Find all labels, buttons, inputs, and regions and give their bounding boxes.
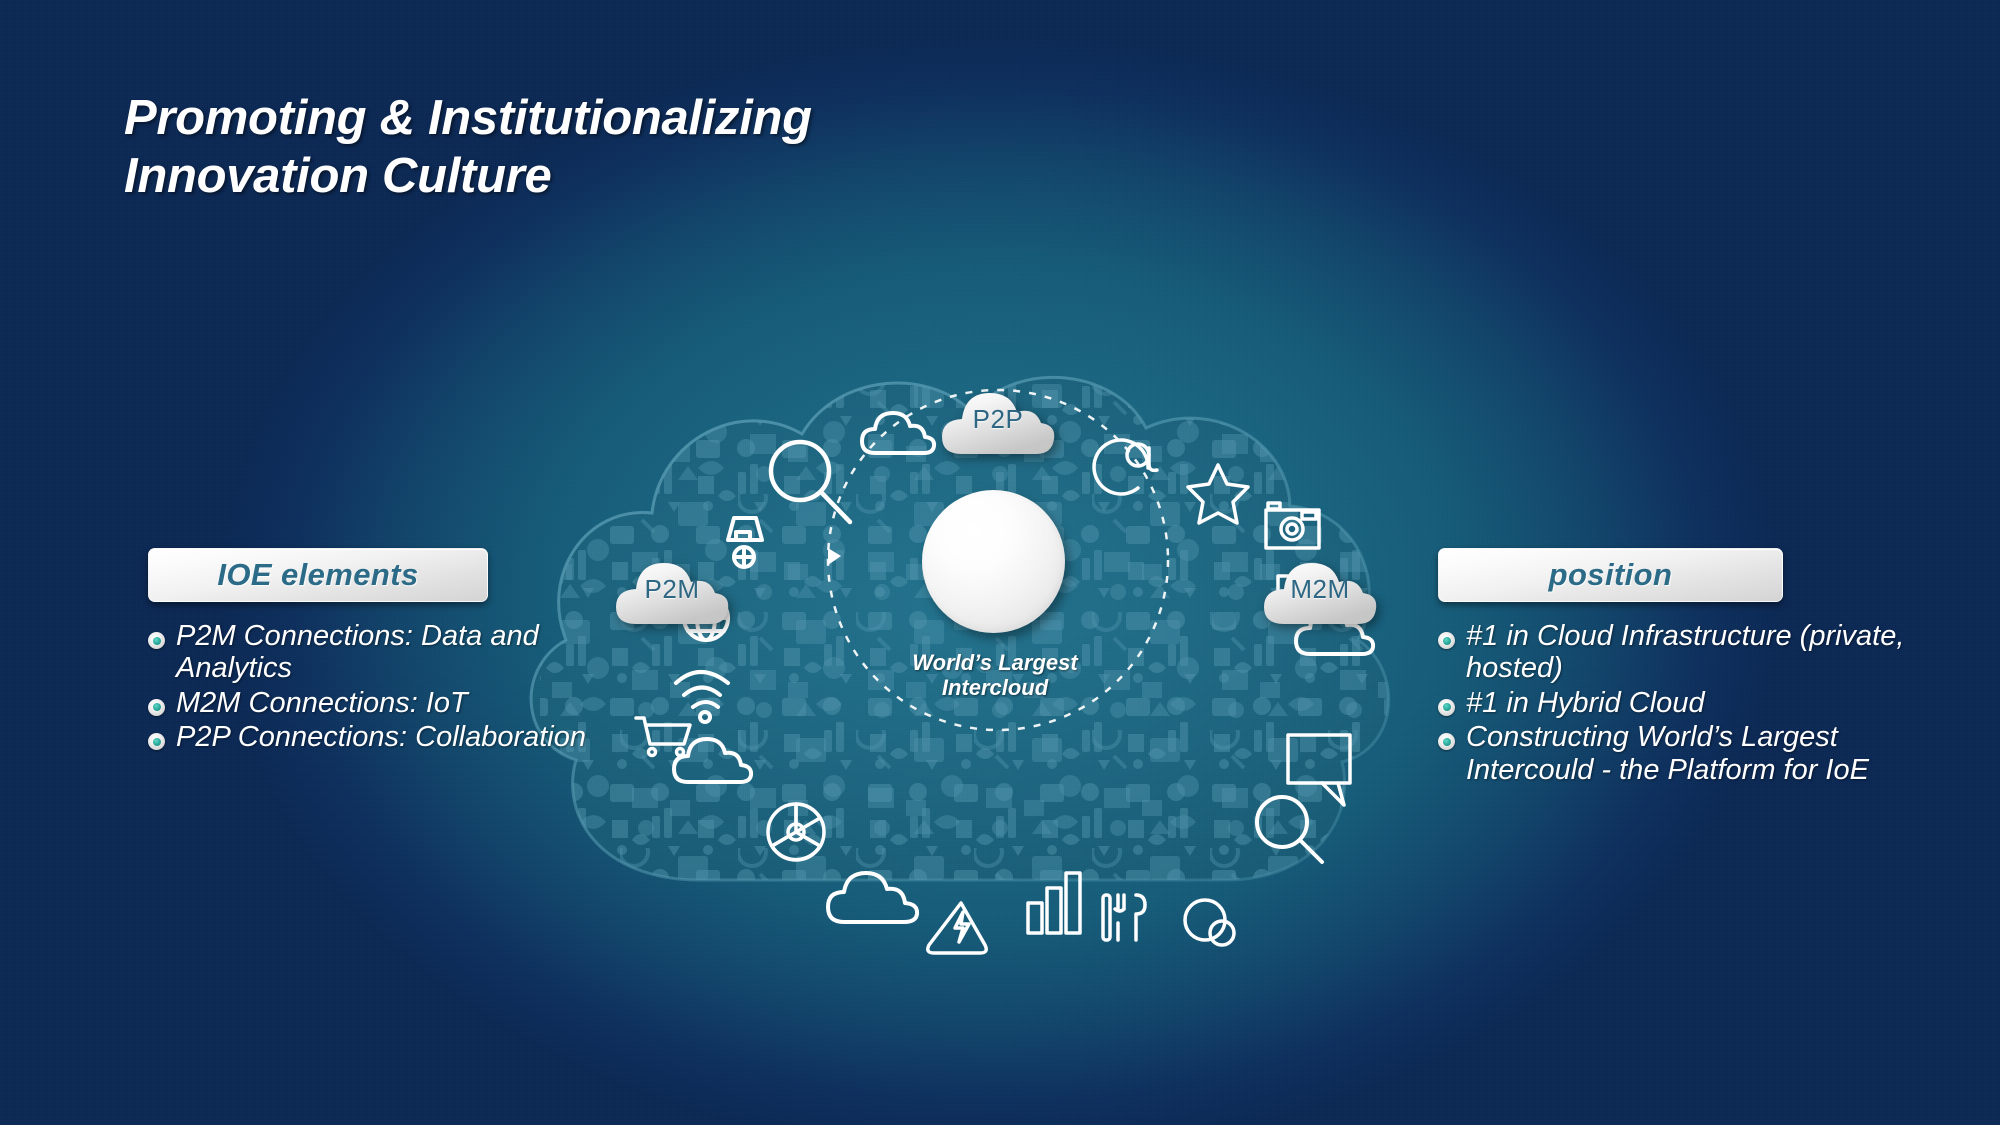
ioe-elements-panel: IOE elements P2M Connections: Data and A… [148, 548, 618, 756]
orbit-arrow-marker [828, 548, 841, 565]
ioe-elements-header: IOE elements [148, 548, 488, 602]
list-item: #1 in Cloud Infrastructure (private, hos… [1438, 620, 1918, 685]
ioe-elements-header-label: IOE elements [217, 557, 418, 592]
core-label-line-1: World’s Largest [860, 650, 1130, 675]
cloud-badge-label: M2M [1260, 574, 1380, 605]
list-item-text: #1 in Hybrid Cloud [1466, 687, 1705, 719]
position-header: position [1438, 548, 1783, 602]
list-item: #1 in Hybrid Cloud [1438, 687, 1918, 719]
slide-canvas: Promoting & Institutionalizing Innovatio… [0, 0, 2000, 1125]
position-bullet-list: #1 in Cloud Infrastructure (private, hos… [1438, 620, 1918, 786]
bullet-marker-icon [148, 699, 165, 716]
intercloud-core-label: World’s Largest Intercloud [860, 650, 1130, 700]
bullet-marker-icon [1438, 733, 1455, 750]
list-item-text: #1 in Cloud Infrastructure (private, hos… [1466, 620, 1918, 685]
title-line-1: Promoting & Institutionalizing [124, 90, 1024, 148]
bullet-marker-icon [1438, 699, 1455, 716]
bullet-marker-icon [148, 632, 165, 649]
intercloud-core-sphere [922, 490, 1065, 633]
cloud-badge-p2p[interactable]: P2P [938, 380, 1058, 458]
position-header-label: position [1549, 557, 1673, 592]
cloud-badge-m2m[interactable]: M2M [1260, 550, 1380, 628]
cloud-badge-label: P2M [612, 574, 732, 605]
bullet-marker-icon [1438, 632, 1455, 649]
list-item-text: P2P Connections: Collaboration [176, 721, 586, 753]
page-title: Promoting & Institutionalizing Innovatio… [124, 90, 1024, 206]
core-label-line-2: Intercloud [860, 675, 1130, 700]
list-item: M2M Connections: IoT [148, 687, 618, 719]
cloud-badge-label: P2P [938, 404, 1058, 435]
list-item-text: Constructing World’s Largest Intercould … [1466, 721, 1918, 786]
list-item: P2M Connections: Data and Analytics [148, 620, 618, 685]
title-line-2: Innovation Culture [124, 148, 1024, 206]
list-item: Constructing World’s Largest Intercould … [1438, 721, 1918, 786]
bullet-marker-icon [148, 733, 165, 750]
list-item: P2P Connections: Collaboration [148, 721, 618, 753]
position-panel: position #1 in Cloud Infrastructure (pri… [1438, 548, 1918, 788]
ioe-elements-bullet-list: P2M Connections: Data and Analytics M2M … [148, 620, 618, 754]
list-item-text: P2M Connections: Data and Analytics [176, 620, 618, 685]
intercloud-diagram: World’s Largest Intercloud P2P [560, 360, 1440, 920]
list-item-text: M2M Connections: IoT [176, 687, 468, 719]
cloud-badge-p2m[interactable]: P2M [612, 550, 732, 628]
